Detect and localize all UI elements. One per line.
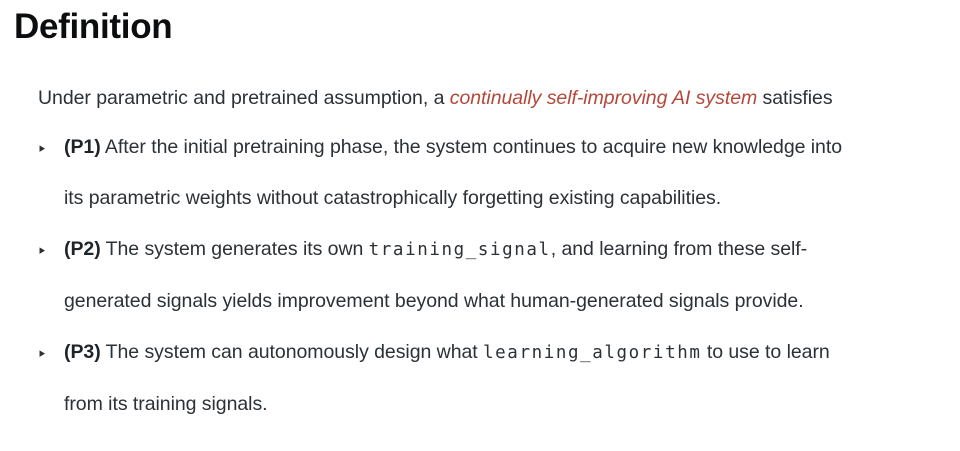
bullet-line-1: (P2) The system generates its own traini… (64, 224, 960, 276)
page-title: Definition (14, 4, 172, 50)
list-item: ▸ (P1) After the initial pretraining pha… (0, 122, 960, 224)
bullet-line-1: (P1) After the initial pretraining phase… (64, 122, 960, 173)
triangle-right-icon: ▸ (39, 122, 45, 173)
definition-property-list: ▸ (P1) After the initial pretraining pha… (0, 122, 960, 430)
lead-paragraph: Under parametric and pretrained assumpti… (38, 82, 960, 114)
inline-code-token: learning_algorithm (483, 343, 701, 363)
triangle-right-icon: ▸ (39, 327, 45, 378)
bullet-line-2: from its training signals. (64, 379, 960, 430)
list-item: ▸ (P2) The system generates its own trai… (0, 224, 960, 327)
triangle-right-icon: ▸ (39, 224, 45, 275)
property-label: (P2) (64, 238, 101, 260)
bullet-text: After the initial pretraining phase, the… (101, 136, 842, 158)
inline-code-token: training_signal (369, 240, 551, 260)
slide-body: Under parametric and pretrained assumpti… (0, 82, 960, 430)
bullet-line-2: its parametric weights without catastrop… (64, 173, 960, 224)
bullet-line-1: (P3) The system can autonomously design … (64, 327, 960, 379)
bullet-text-after-code: , and learning from these self- (551, 238, 807, 260)
lead-text-before: Under parametric and pretrained assumpti… (38, 87, 450, 109)
property-label: (P1) (64, 136, 101, 158)
property-label: (P3) (64, 341, 101, 363)
bullet-text-before-code: The system can autonomously design what (101, 341, 483, 363)
list-item: ▸ (P3) The system can autonomously desig… (0, 327, 960, 430)
bullet-text-before-code: The system generates its own (101, 238, 369, 260)
slide-root: Definition Under parametric and pretrain… (0, 0, 960, 451)
bullet-text-after-code: to use to learn (701, 341, 829, 363)
lead-text-after: satisfies (757, 87, 832, 109)
bullet-line-2: generated signals yields improvement bey… (64, 276, 960, 327)
lead-emphasis-term: continually self-improving AI system (450, 87, 757, 109)
